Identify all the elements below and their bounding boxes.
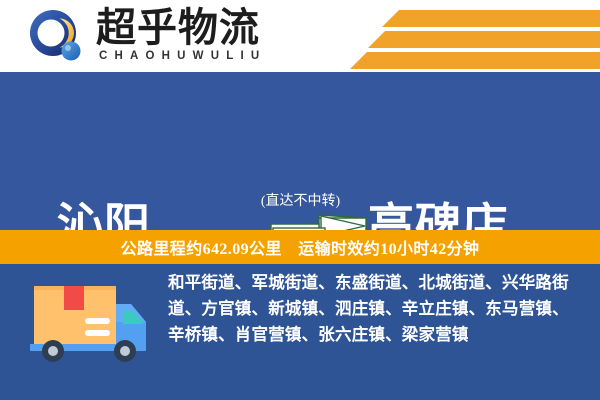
logistics-route-banner: 超乎物流 CHAOHUWULIU 沁阳 (直达不中转) — [0, 0, 600, 400]
stripe-2 — [368, 31, 600, 48]
coverage-line-3: 辛桥镇、肖官营镇、张六庄镇、梁家营镇 — [168, 322, 588, 348]
route-info-bar: 公路里程约642.09公里 运输时效约10小时42分钟 — [0, 230, 600, 264]
coverage-area-list: 和平街道、军城街道、东盛街道、北城街道、兴华路街 道、方官镇、新城镇、泗庄镇、辛… — [168, 270, 588, 348]
stripe-3 — [350, 52, 600, 69]
coverage-line-2: 道、方官镇、新城镇、泗庄镇、辛立庄镇、东马营镇、 — [168, 296, 588, 322]
route-panel: 沁阳 (直达不中转) — [0, 72, 600, 230]
route-info-text: 公路里程约642.09公里 运输时效约10小时42分钟 — [121, 235, 480, 259]
circular-q-logo-icon — [27, 8, 85, 66]
brand-name-cn: 超乎物流 — [96, 6, 260, 50]
direct-shipping-note: (直达不中转) — [233, 190, 368, 210]
decorative-stripes — [290, 0, 600, 72]
stripe-1 — [382, 10, 600, 27]
brand-name-en: CHAOHUWULIU — [99, 50, 266, 62]
header: 超乎物流 CHAOHUWULIU — [0, 0, 600, 72]
coverage-line-1: 和平街道、军城街道、东盛街道、北城街道、兴华路街 — [168, 270, 588, 296]
delivery-truck-icon — [28, 278, 152, 364]
